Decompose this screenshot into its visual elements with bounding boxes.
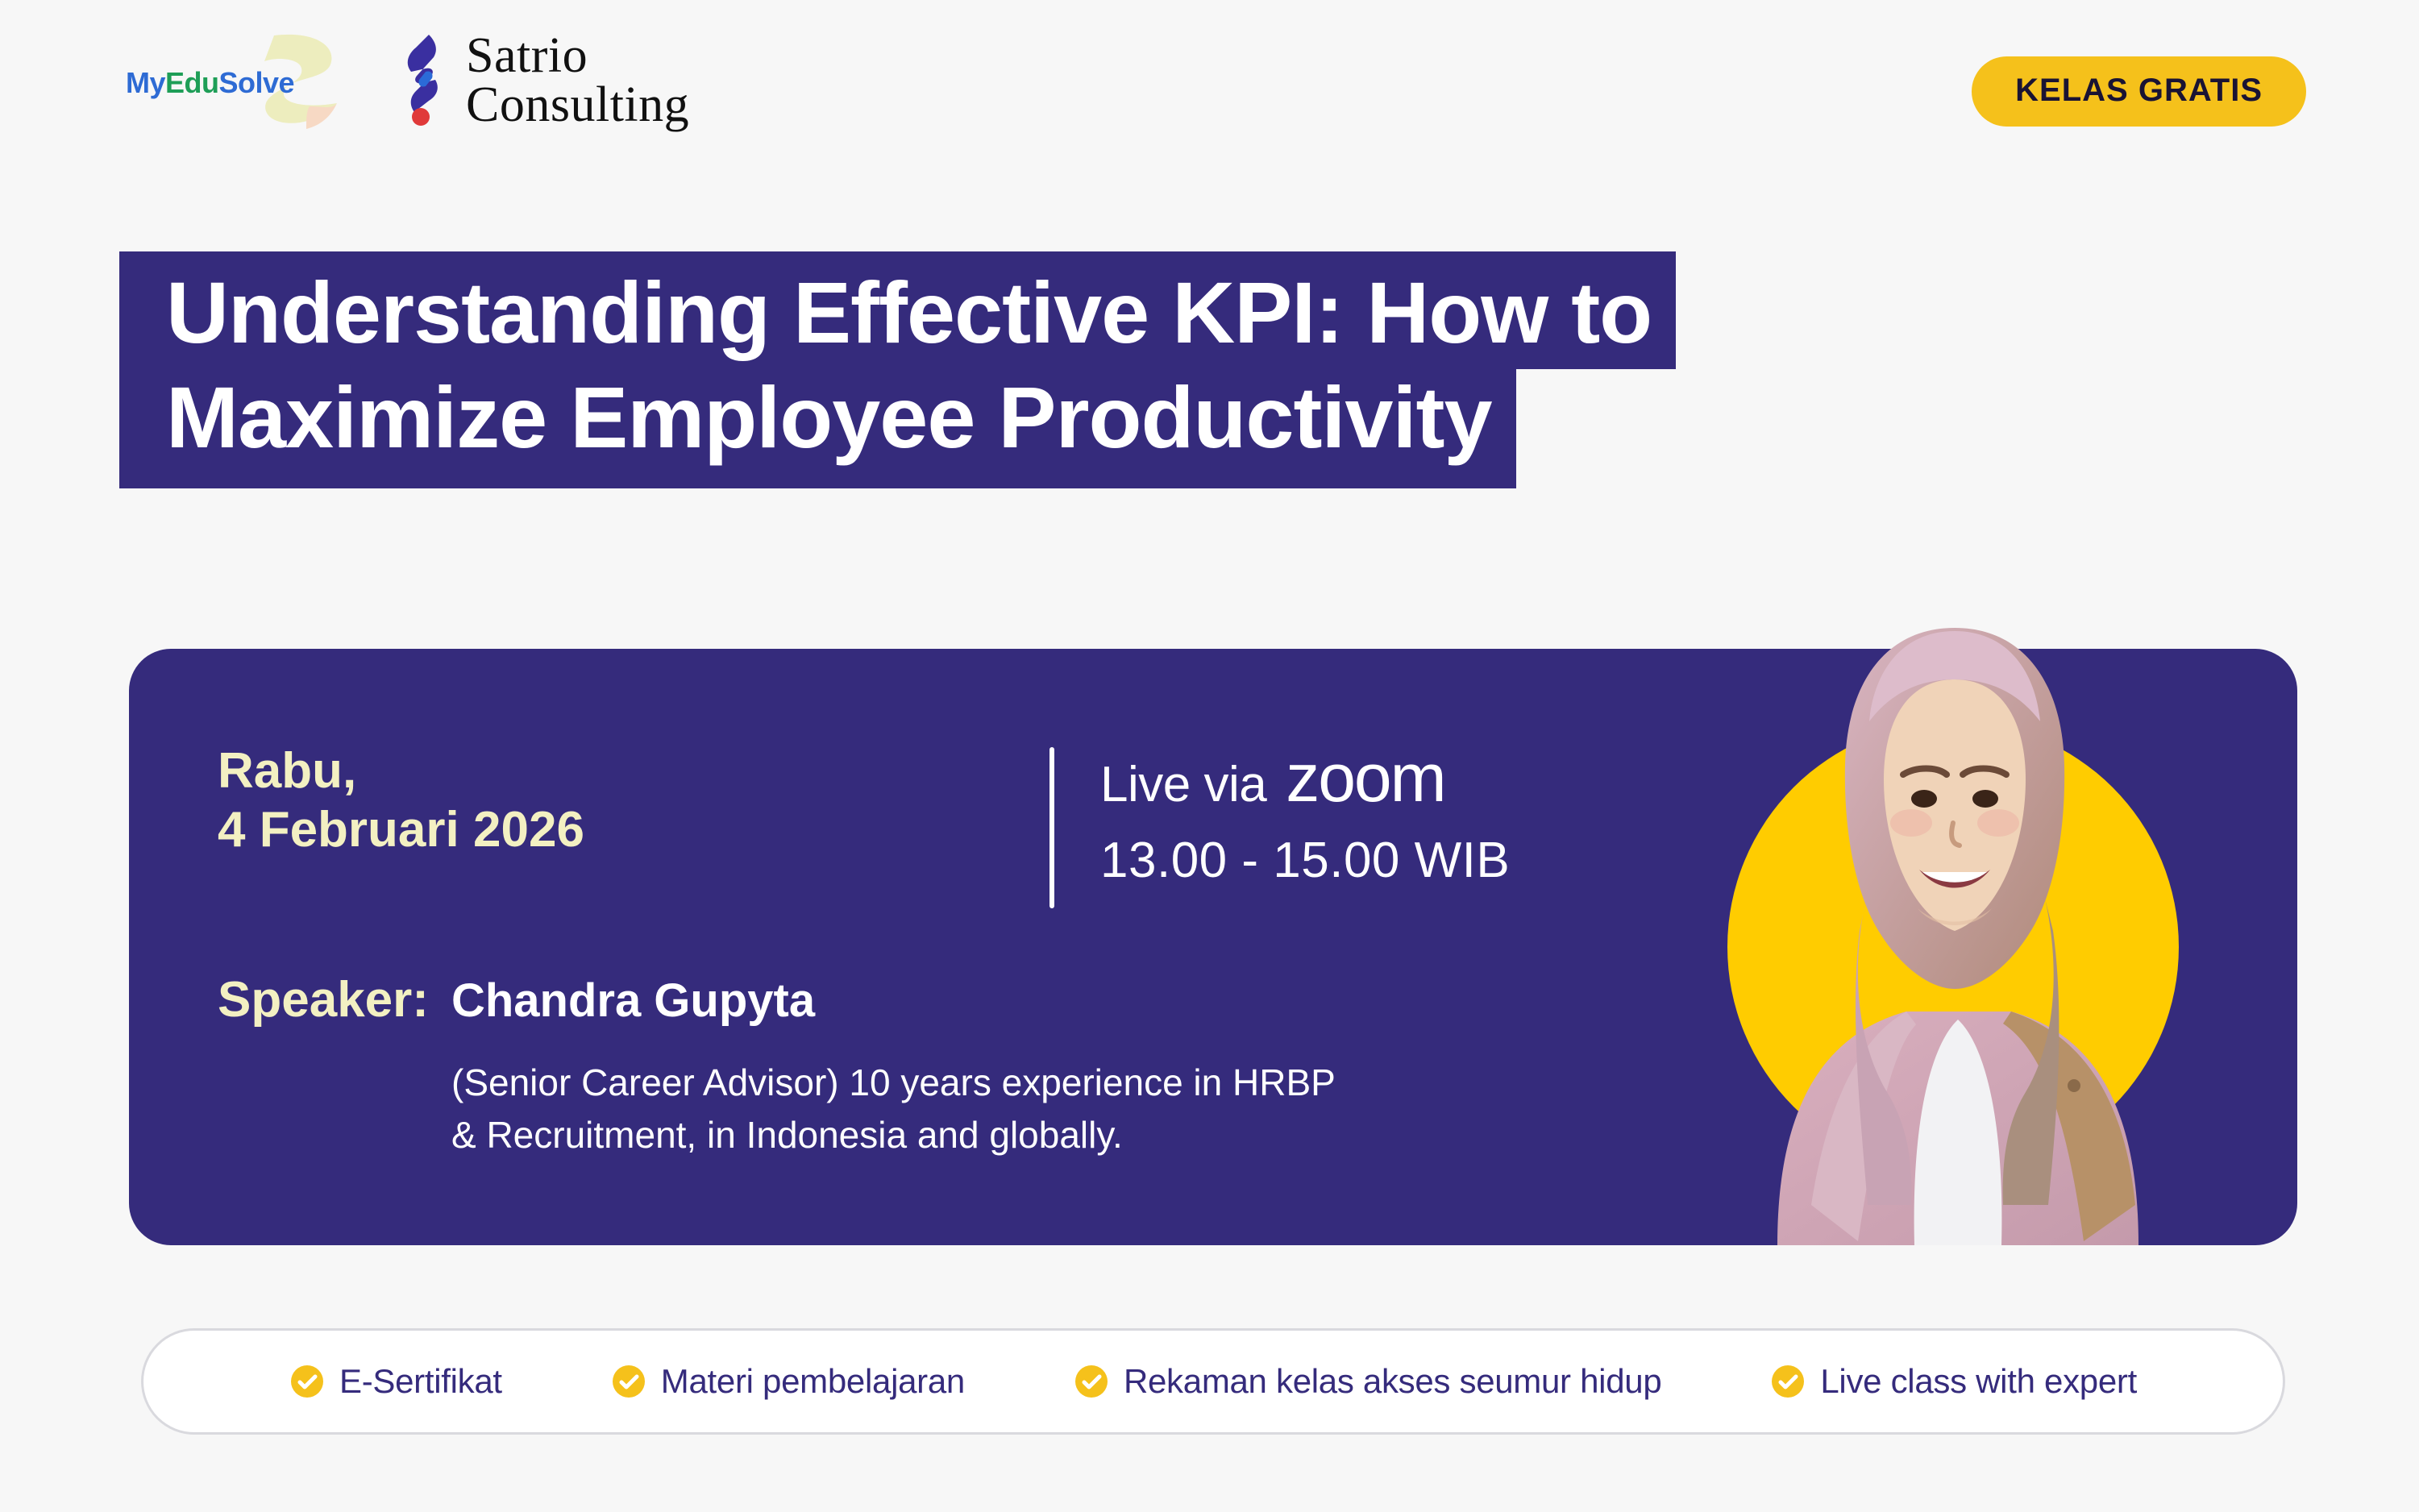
benefits-bar: E-Sertifikat Materi pembelajaran Rekaman… <box>141 1328 2285 1435</box>
event-date: Rabu, 4 Februari 2026 <box>218 741 584 859</box>
speaker-portrait-photo <box>1745 592 2164 1245</box>
mes-word-solve: Solve <box>219 66 295 99</box>
kelas-gratis-badge: KELAS GRATIS <box>1972 56 2306 127</box>
benefit-label-3: Live class with expert <box>1820 1362 2137 1401</box>
speaker-photo <box>1697 592 2197 1245</box>
check-badge-icon <box>611 1364 646 1399</box>
vertical-divider <box>1049 747 1054 908</box>
benefit-label-2: Rekaman kelas akses seumur hidup <box>1124 1362 1661 1401</box>
mes-word-my: My <box>126 66 165 99</box>
myedusolve-logo: MyEduSolve <box>121 24 363 137</box>
poster-title: Understanding Effective KPI: How to Maxi… <box>119 251 2344 488</box>
title-line-1: Understanding Effective KPI: How to <box>119 251 1676 369</box>
event-full-date: 4 Februari 2026 <box>218 800 584 859</box>
zoom-logo-wordmark: zoom <box>1286 739 1444 817</box>
benefit-label-0: E-Sertifikat <box>339 1362 502 1401</box>
speaker-label: Speaker: <box>218 971 429 1028</box>
benefit-label-1: Materi pembelajaran <box>661 1362 965 1401</box>
partner-logos: MyEduSolve Satrio Consulting <box>121 24 689 137</box>
benefit-item-2: Rekaman kelas akses seumur hidup <box>1074 1362 1661 1401</box>
event-day: Rabu, <box>218 741 584 800</box>
speaker-name: Chandra Gupyta <box>451 974 815 1028</box>
satrio-consulting-logo: Satrio Consulting <box>393 31 689 130</box>
myedusolve-wordmark: MyEduSolve <box>126 66 294 100</box>
check-badge-icon <box>1770 1364 1806 1399</box>
event-schedule: Live via zoom 13.00 - 15.00 WIB <box>1100 739 1510 889</box>
satrio-line-1: Satrio <box>466 31 689 81</box>
benefit-item-3: Live class with expert <box>1770 1362 2137 1401</box>
check-badge-icon <box>1074 1364 1109 1399</box>
benefit-item-0: E-Sertifikat <box>289 1362 502 1401</box>
check-badge-icon <box>289 1364 325 1399</box>
satrio-line-2: Consulting <box>466 81 689 130</box>
benefit-item-1: Materi pembelajaran <box>611 1362 965 1401</box>
speaker-row: Speaker: Chandra Gupyta <box>218 971 815 1028</box>
title-line-2: Maximize Employee Productivity <box>119 369 1516 488</box>
live-via-label: Live via <box>1100 756 1266 813</box>
event-time-range: 13.00 - 15.00 WIB <box>1100 832 1510 889</box>
satrio-wordmark: Satrio Consulting <box>466 31 689 130</box>
speaker-bio: (Senior Career Advisor) 10 years experie… <box>451 1057 1336 1162</box>
poster-header: MyEduSolve Satrio Consulting KELAS GRATI… <box>0 0 2419 185</box>
live-via-row: Live via zoom <box>1100 739 1510 817</box>
mes-word-edu: Edu <box>165 66 219 99</box>
satrio-bolt-icon <box>393 33 451 128</box>
